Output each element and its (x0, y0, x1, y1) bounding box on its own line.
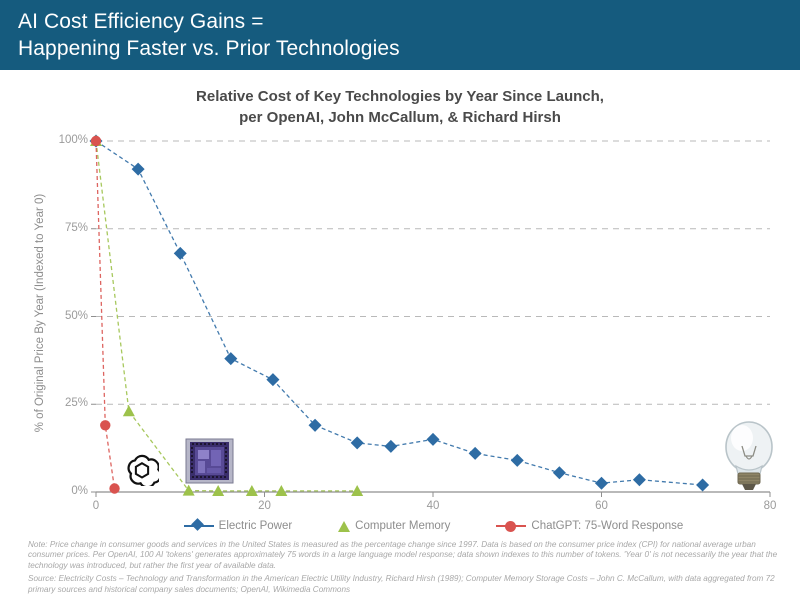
legend-swatch-line (184, 525, 214, 527)
legend-label: ChatGPT: 75-Word Response (531, 520, 683, 532)
series-line (96, 141, 703, 485)
legend-swatch-triangle (338, 521, 350, 532)
data-point (275, 485, 287, 496)
data-point (174, 247, 187, 260)
memory-chip-image (185, 438, 234, 484)
series-electric-power (89, 134, 709, 491)
legend-item-electric-power[interactable]: Electric Power (184, 520, 293, 532)
footnote-source: Source: Electricity Costs – Technology a… (28, 574, 780, 595)
data-point (100, 420, 110, 430)
footnote-note: Note: Price change in consumer goods and… (28, 540, 780, 571)
data-point (696, 478, 709, 491)
series-line (96, 141, 115, 489)
data-point (595, 477, 608, 490)
data-point (384, 440, 397, 453)
legend-swatch-line (496, 525, 526, 527)
data-point (224, 352, 237, 365)
legend-label: Computer Memory (355, 520, 450, 532)
chart-legend: Electric Power Computer Memory ChatGPT: … (96, 520, 771, 532)
data-point (183, 485, 195, 496)
data-point (553, 466, 566, 479)
data-point (469, 447, 482, 460)
lightbulb-image (718, 418, 780, 494)
legend-label: Electric Power (219, 520, 293, 532)
footnotes: Note: Price change in consumer goods and… (28, 540, 780, 598)
series-chatgpt-75-word-response (91, 136, 120, 494)
data-point (109, 483, 119, 493)
legend-item-chatgpt[interactable]: ChatGPT: 75-Word Response (496, 520, 683, 532)
data-point (132, 163, 145, 176)
data-point (212, 485, 224, 496)
data-point (123, 405, 135, 416)
data-point (91, 136, 101, 146)
plot-canvas (0, 0, 800, 599)
openai-logo-icon (125, 452, 159, 486)
data-point (426, 433, 439, 446)
data-point (351, 436, 364, 449)
data-point (633, 473, 646, 486)
legend-item-computer-memory[interactable]: Computer Memory (338, 520, 450, 532)
data-point (511, 454, 524, 467)
